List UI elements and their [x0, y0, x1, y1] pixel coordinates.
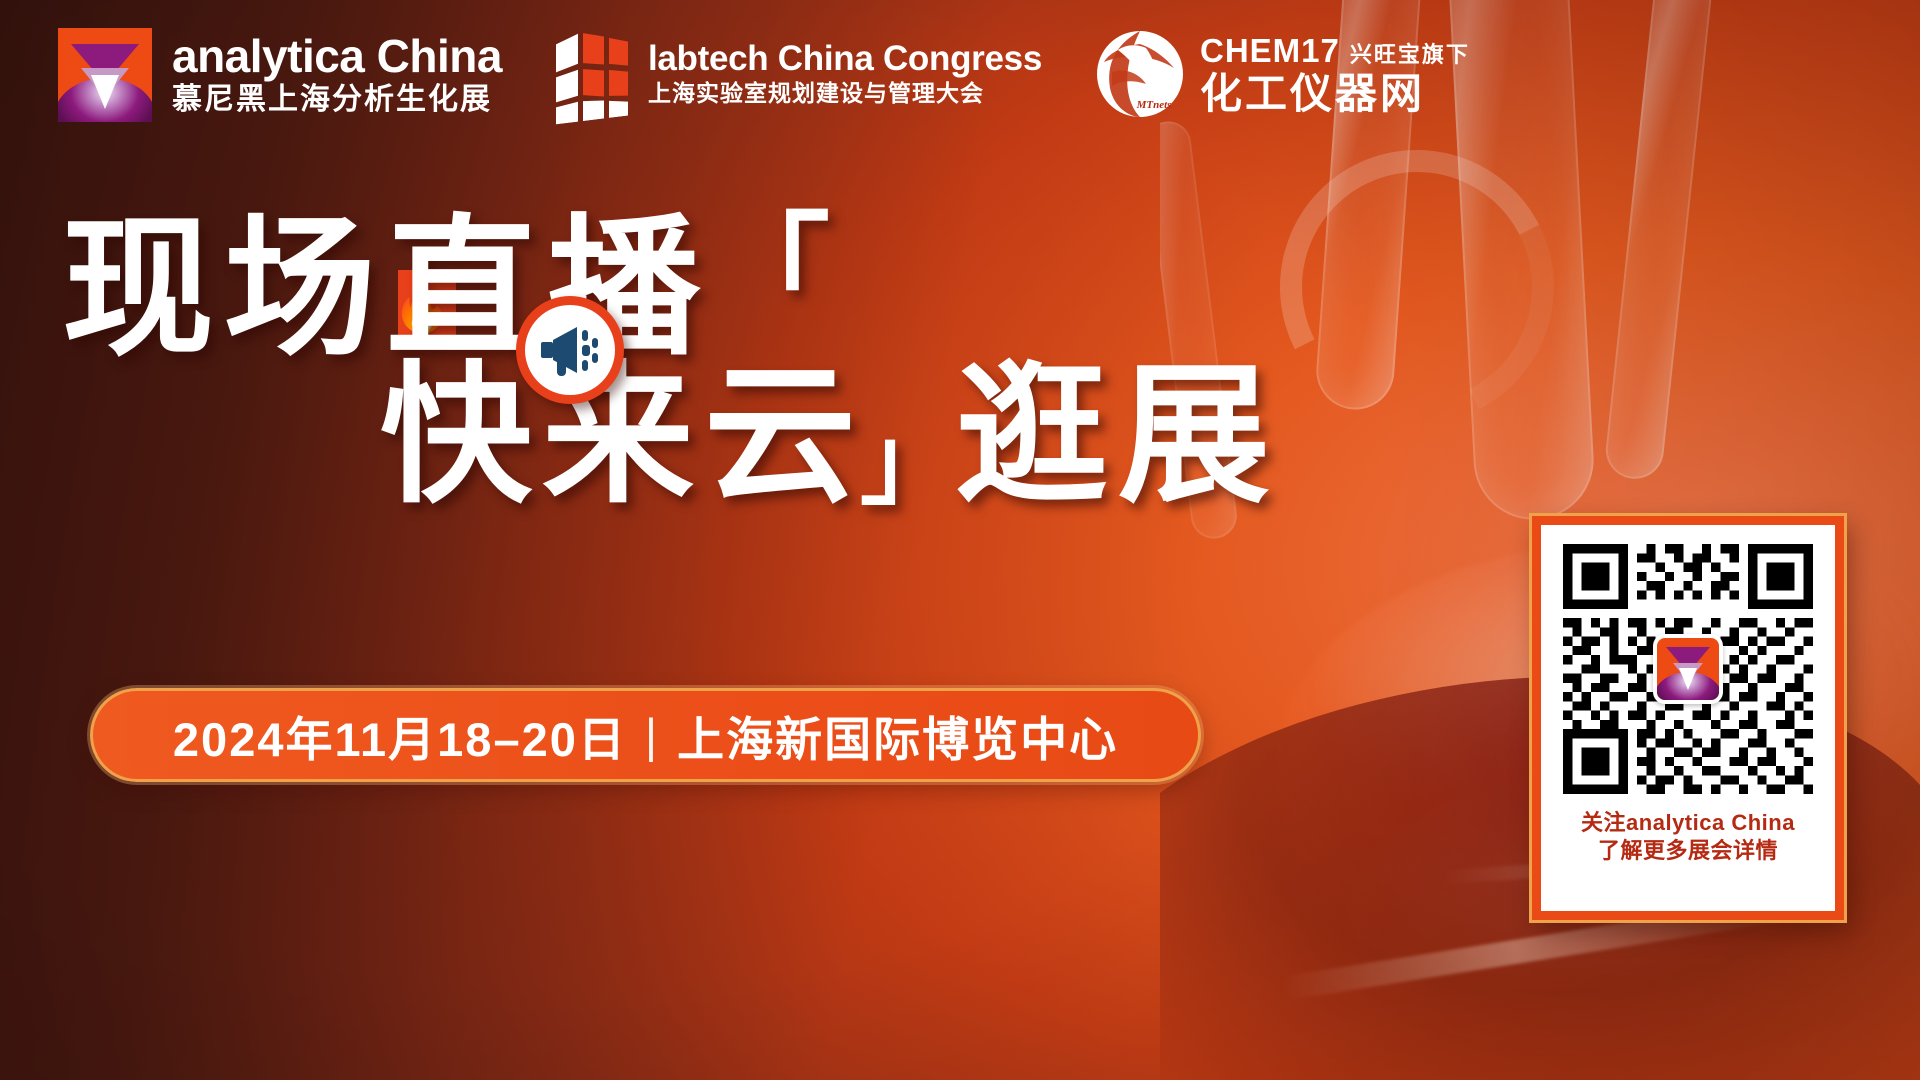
headline-line-2: 快 来 云 」 逛 展 — [0, 359, 1260, 514]
headline-line-1: 现 场 🔥 直 播 「 云 — [0, 212, 1260, 367]
headline-char-1: 现 — [62, 212, 224, 367]
headline-quote-open: 「 — [710, 210, 830, 332]
logo-analytica-china[interactable]: analytica China 慕尼黑上海分析生化展 — [58, 28, 502, 122]
headline-char-5: 快 — [380, 359, 542, 514]
headline-char-7: 逛 — [956, 359, 1118, 514]
qr-code-icon[interactable] — [1554, 535, 1822, 803]
analytica-triangle-mark-icon — [58, 28, 152, 122]
headline: 现 场 🔥 直 播 「 云 快 来 云 」 逛 展 — [0, 212, 1260, 514]
analytica-name-cn: 慕尼黑上海分析生化展 — [172, 83, 502, 117]
promo-banner: analytica China 慕尼黑上海分析生化展 — [0, 0, 1920, 1080]
megaphone-icon — [516, 296, 624, 404]
chem17-name-sub-cn: 兴旺宝旗下 — [1350, 37, 1470, 69]
labtech-grid-mark-icon — [554, 23, 630, 124]
chem17-name-en: CHEM17 — [1200, 32, 1340, 70]
analytica-name-en: analytica China — [172, 33, 502, 81]
qr-caption-line-2: 了解更多展会详情 — [1581, 837, 1795, 865]
qr-card[interactable]: 关注analytica China 了解更多展会详情 — [1532, 516, 1844, 920]
chem17-name-cn: 化工仪器网 — [1200, 71, 1470, 116]
date-venue-bar: 2024年11月18–20日 | 上海新国际博览中心 — [90, 688, 1201, 782]
headline-char-8: 展 — [1118, 359, 1280, 514]
date-separator: | — [645, 708, 659, 763]
event-venue: 上海新国际博览中心 — [677, 701, 1118, 770]
headline-quote-close: 」 — [860, 414, 956, 512]
headline-char-cloud: 云 — [704, 359, 860, 514]
logo-chem17[interactable]: MTnets CHEM17 兴旺宝旗下 化工仪器网 — [1094, 28, 1470, 120]
qr-caption-line-1: 关注analytica China — [1581, 809, 1795, 837]
event-date: 2024年11月18–20日 — [173, 701, 627, 770]
chem17-globe-mark-icon: MTnets — [1094, 28, 1186, 120]
labtech-name-en: labtech China Congress — [648, 40, 1042, 77]
qr-center-logo-icon — [1653, 634, 1723, 704]
qr-caption: 关注analytica China 了解更多展会详情 — [1581, 809, 1795, 864]
logo-row: analytica China 慕尼黑上海分析生化展 — [58, 28, 1470, 122]
logo-labtech-china-congress[interactable]: labtech China Congress 上海实验室规划建设与管理大会 — [554, 28, 1042, 120]
labtech-name-cn: 上海实验室规划建设与管理大会 — [648, 80, 1042, 107]
chem17-mark-label: MTnets — [1136, 99, 1172, 111]
headline-char-2: 场 — [224, 212, 386, 367]
